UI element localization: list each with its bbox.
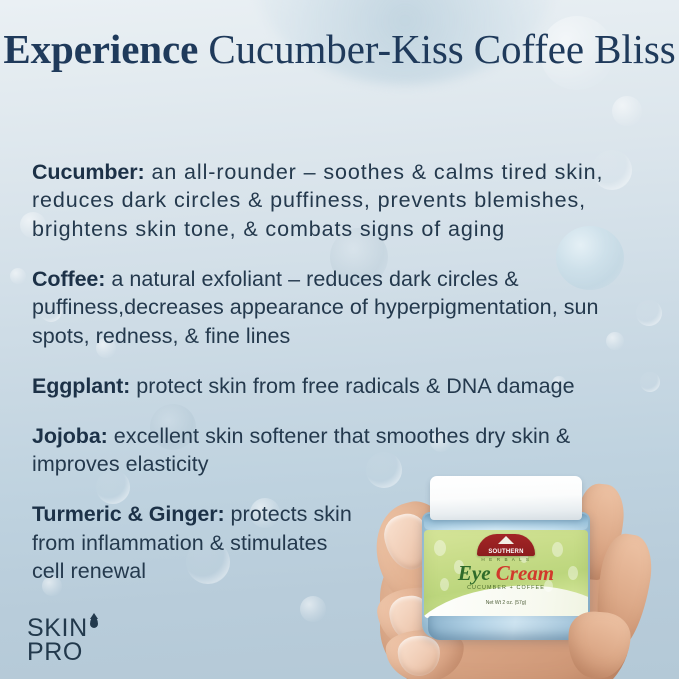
- product-jar: SOUTHERN H E R B A L S Eye Cream CUCUMBE…: [422, 476, 590, 648]
- jar-lid: [430, 476, 582, 520]
- benefit-text: a natural exfoliant – reduces dark circl…: [32, 267, 599, 348]
- benefit-item: Cucumber: an all-rounder – soothes & cal…: [32, 158, 657, 244]
- product-subtitle: CUCUMBER + COFFEE: [424, 585, 588, 591]
- product-net-weight: Net Wt 2 oz. (57g): [424, 600, 588, 606]
- benefit-text: protect skin from free radicals & DNA da…: [130, 374, 574, 398]
- benefit-label: Coffee:: [32, 267, 105, 291]
- jar-base: [428, 616, 584, 640]
- product-title: Eye Cream: [424, 562, 588, 584]
- logo-text-pro: PRO: [27, 640, 98, 664]
- product-infographic: Experience Cucumber-Kiss Coffee Bliss Cu…: [0, 0, 679, 679]
- benefit-label: Turmeric & Ginger:: [32, 502, 225, 526]
- brand-logo: SKIN PRO: [27, 616, 98, 664]
- benefit-label: Eggplant:: [32, 374, 130, 398]
- page-title: Experience Cucumber-Kiss Coffee Bliss: [0, 26, 679, 73]
- bubble-decoration: [10, 268, 26, 284]
- product-title-cream: Cream: [496, 561, 554, 585]
- brand-badge: SOUTHERN H E R B A L S: [477, 534, 535, 560]
- mountain-icon: [498, 536, 514, 544]
- logo-text-skin: SKIN: [27, 616, 88, 640]
- badge-arc: SOUTHERN: [477, 534, 535, 556]
- headline-emphasis: Experience: [3, 26, 198, 72]
- headline-rest: Cucumber-Kiss Coffee Bliss: [198, 26, 675, 72]
- benefit-item: Turmeric & Ginger: protects skin from in…: [32, 500, 362, 586]
- benefit-label: Cucumber:: [32, 160, 145, 184]
- product-title-eye: Eye: [458, 561, 491, 585]
- logo-line-one: SKIN: [27, 616, 98, 640]
- benefit-item: Coffee: a natural exfoliant – reduces da…: [32, 265, 657, 351]
- brand-name: SOUTHERN: [477, 549, 535, 555]
- label-content: SOUTHERN H E R B A L S Eye Cream CUCUMBE…: [424, 530, 588, 618]
- benefit-item: Eggplant: protect skin from free radical…: [32, 372, 657, 401]
- water-drop-icon: [90, 617, 98, 628]
- bubble-decoration: [612, 96, 642, 126]
- jar-label: SOUTHERN H E R B A L S Eye Cream CUCUMBE…: [424, 530, 588, 618]
- benefit-label: Jojoba:: [32, 424, 108, 448]
- product-photo: SOUTHERN H E R B A L S Eye Cream CUCUMBE…: [372, 462, 679, 679]
